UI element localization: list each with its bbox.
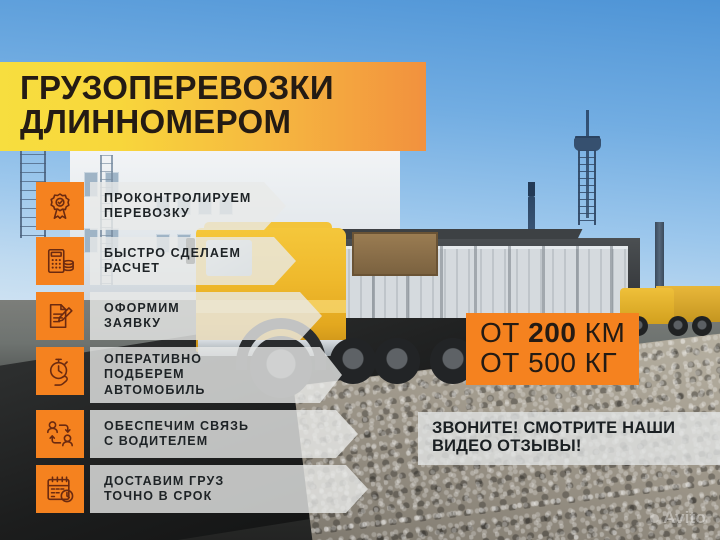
calendar-clock-icon bbox=[36, 465, 84, 513]
second-truck-wheel bbox=[692, 316, 712, 336]
feature-label: ПРОКОНТРОЛИРУЕМ ПЕРЕВОЗКУ bbox=[90, 182, 286, 230]
distance-prefix: ОТ bbox=[480, 317, 520, 348]
headline-line-1: ГРУЗОПЕРЕВОЗКИ bbox=[20, 71, 412, 105]
minimum-weight-line: ОТ 500 КГ bbox=[480, 348, 625, 378]
feature-text: БЫСТРО СДЕЛАЕМ РАСЧЕТ bbox=[104, 246, 241, 277]
cta-line-1: ЗВОНИТЕ! СМОТРИТЕ НАШИ bbox=[432, 419, 710, 437]
feature-item-control-shipment: ПРОКОНТРОЛИРУЕМ ПЕРЕВОЗКУ bbox=[36, 182, 368, 230]
avito-logo-dot-icon bbox=[650, 514, 659, 523]
headline-banner: ГРУЗОПЕРЕВОЗКИ ДЛИННОМЕРОМ bbox=[0, 62, 426, 151]
document-pen-icon bbox=[36, 292, 84, 340]
feature-text: ОПЕРАТИВНО ПОДБЕРЕМ АВТОМОБИЛЬ bbox=[104, 352, 206, 398]
distance-value: 200 bbox=[528, 317, 576, 348]
feature-item-driver-contact: ОБЕСПЕЧИМ СВЯЗЬ С ВОДИТЕЛЕМ bbox=[36, 410, 368, 458]
award-ribbon-icon bbox=[36, 182, 84, 230]
weight-unit: КГ bbox=[585, 347, 617, 378]
feature-label: ОБЕСПЕЧИМ СВЯЗЬ С ВОДИТЕЛЕМ bbox=[90, 410, 358, 458]
feature-item-fast-calculation: БЫСТРО СДЕЛАЕМ РАСЧЕТ bbox=[36, 237, 368, 285]
feature-label: ОФОРМИМ ЗАЯВКУ bbox=[90, 292, 322, 340]
avito-watermark: Avito bbox=[650, 508, 706, 528]
price-conditions-badge: ОТ 200 КМ ОТ 500 КГ bbox=[466, 313, 639, 385]
minimum-distance-line: ОТ 200 КМ bbox=[480, 318, 625, 348]
avito-watermark-label: Avito bbox=[663, 508, 706, 528]
people-exchange-icon bbox=[36, 410, 84, 458]
feature-text: ПРОКОНТРОЛИРУЕМ ПЕРЕВОЗКУ bbox=[104, 191, 251, 222]
floodlight-mast-lattice bbox=[578, 150, 596, 225]
feature-text: ОБЕСПЕЧИМ СВЯЗЬ С ВОДИТЕЛЕМ bbox=[104, 419, 249, 450]
distance-unit: КМ bbox=[585, 317, 626, 348]
trailer-wheel bbox=[374, 338, 420, 384]
feature-label: ДОСТАВИМ ГРУЗ ТОЧНО В СРОК bbox=[90, 465, 368, 513]
headline-line-2: ДЛИННОМЕРОМ bbox=[20, 105, 412, 139]
feature-item-place-order: ОФОРМИМ ЗАЯВКУ bbox=[36, 292, 368, 340]
weight-prefix: ОТ bbox=[480, 347, 520, 378]
feature-item-on-time-delivery: ДОСТАВИМ ГРУЗ ТОЧНО В СРОК bbox=[36, 465, 368, 513]
feature-item-quick-vehicle-selection: ОПЕРАТИВНО ПОДБЕРЕМ АВТОМОБИЛЬ bbox=[36, 347, 368, 403]
call-to-action-banner: ЗВОНИТЕ! СМОТРИТЕ НАШИ ВИДЕО ОТЗЫВЫ! bbox=[418, 412, 720, 465]
feature-list: ПРОКОНТРОЛИРУЕМ ПЕРЕВОЗКУ bbox=[36, 182, 368, 513]
cta-line-2: ВИДЕО ОТЗЫВЫ! bbox=[432, 437, 710, 455]
advertisement-banner: ГРУЗОПЕРЕВОЗКИ ДЛИННОМЕРОМ ПРОКОНТРОЛИРУ… bbox=[0, 0, 720, 540]
feature-label: БЫСТРО СДЕЛАЕМ РАСЧЕТ bbox=[90, 237, 296, 285]
calculator-coins-icon bbox=[36, 237, 84, 285]
feature-label: ОПЕРАТИВНО ПОДБЕРЕМ АВТОМОБИЛЬ bbox=[90, 347, 342, 403]
stopwatch-hand-icon bbox=[36, 347, 84, 395]
second-truck-wheel bbox=[668, 316, 688, 336]
feature-text: ОФОРМИМ ЗАЯВКУ bbox=[104, 301, 180, 332]
weight-value: 500 bbox=[528, 347, 576, 378]
feature-text: ДОСТАВИМ ГРУЗ ТОЧНО В СРОК bbox=[104, 474, 224, 505]
